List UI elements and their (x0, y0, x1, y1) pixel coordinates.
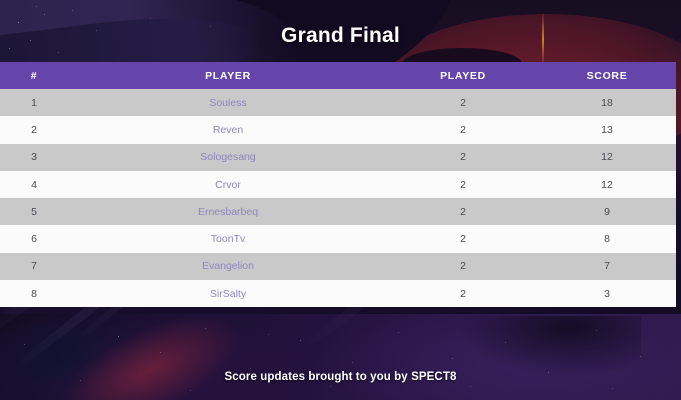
table-row[interactable]: 1Souless218 (0, 89, 676, 116)
cell-score: 7 (538, 260, 676, 272)
table-row[interactable]: 5Ernesbarbeq29 (0, 198, 676, 225)
cell-player-name[interactable]: Sologesang (68, 151, 388, 163)
cell-played: 2 (388, 124, 538, 136)
cell-player-name[interactable]: Crvor (68, 179, 388, 191)
page-title: Grand Final (0, 24, 681, 48)
table-row[interactable]: 8SirSalty23 (0, 280, 676, 307)
cell-score: 13 (538, 124, 676, 136)
leaderboard-table: # PLAYER PLAYED SCORE 1Souless2182Reven2… (0, 62, 676, 307)
table-row[interactable]: 6ToonTv28 (0, 225, 676, 252)
cell-player-name[interactable]: Evangelion (68, 260, 388, 272)
table-row[interactable]: 2Reven213 (0, 116, 676, 143)
cell-played: 2 (388, 206, 538, 218)
table-row[interactable]: 3Sologesang212 (0, 144, 676, 171)
cell-played: 2 (388, 260, 538, 272)
cell-played: 2 (388, 97, 538, 109)
cell-rank: 4 (0, 179, 68, 191)
column-header-rank: # (0, 70, 68, 82)
column-header-player: PLAYER (68, 70, 388, 82)
cell-player-name[interactable]: ToonTv (68, 233, 388, 245)
cell-rank: 2 (0, 124, 68, 136)
cell-score: 12 (538, 179, 676, 191)
cell-rank: 7 (0, 260, 68, 272)
cell-player-name[interactable]: Ernesbarbeq (68, 206, 388, 218)
cell-played: 2 (388, 151, 538, 163)
cell-played: 2 (388, 233, 538, 245)
cell-rank: 6 (0, 233, 68, 245)
table-body: 1Souless2182Reven2133Sologesang2124Crvor… (0, 89, 676, 307)
cell-player-name[interactable]: Reven (68, 124, 388, 136)
table-row[interactable]: 4Crvor212 (0, 171, 676, 198)
table-header-row: # PLAYER PLAYED SCORE (0, 62, 676, 89)
cell-rank: 1 (0, 97, 68, 109)
cell-score: 3 (538, 288, 676, 300)
column-header-played: PLAYED (388, 70, 538, 82)
cell-rank: 5 (0, 206, 68, 218)
cell-played: 2 (388, 179, 538, 191)
column-header-score: SCORE (538, 70, 676, 82)
cell-played: 2 (388, 288, 538, 300)
cell-score: 12 (538, 151, 676, 163)
cell-player-name[interactable]: Souless (68, 97, 388, 109)
cell-score: 9 (538, 206, 676, 218)
footer-credit: Score updates brought to you by SPECT8 (0, 371, 681, 383)
cell-player-name[interactable]: SirSalty (68, 288, 388, 300)
cell-score: 18 (538, 97, 676, 109)
cell-score: 8 (538, 233, 676, 245)
cell-rank: 3 (0, 151, 68, 163)
table-row[interactable]: 7Evangelion27 (0, 253, 676, 280)
cell-rank: 8 (0, 288, 68, 300)
